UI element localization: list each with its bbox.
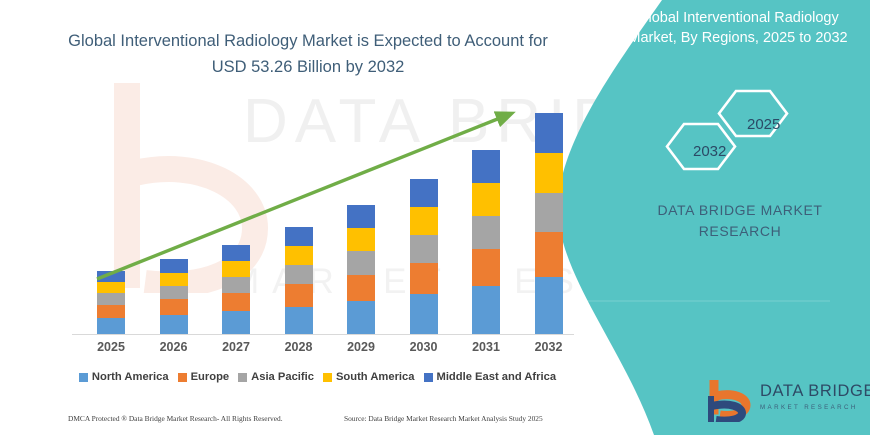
x-axis-label-2025: 2025 bbox=[81, 340, 141, 354]
bar-segment bbox=[347, 228, 375, 251]
panel-title: Global Interventional Radiology Market, … bbox=[612, 8, 864, 48]
legend-label: Asia Pacific bbox=[251, 371, 314, 383]
bar-segment bbox=[347, 301, 375, 335]
bar-2031 bbox=[472, 150, 500, 335]
bar-2025 bbox=[97, 271, 125, 335]
legend-item[interactable]: North America bbox=[79, 371, 169, 383]
legend-swatch-icon bbox=[79, 373, 88, 382]
bar-2032 bbox=[535, 113, 563, 335]
bar-segment bbox=[347, 251, 375, 274]
panel-brand: DATA BRIDGE MARKET RESEARCH bbox=[625, 200, 855, 242]
bar-2026 bbox=[160, 259, 188, 335]
legend-item[interactable]: South America bbox=[323, 371, 415, 383]
bar-segment bbox=[160, 315, 188, 335]
bar-segment bbox=[472, 286, 500, 335]
legend-item[interactable]: Middle East and Africa bbox=[424, 371, 557, 383]
footer-source: Source: Data Bridge Market Research Mark… bbox=[344, 414, 543, 423]
chart-region: 20252026202720282029203020312032 bbox=[0, 0, 600, 400]
bar-segment bbox=[535, 113, 563, 153]
legend-label: Middle East and Africa bbox=[437, 371, 557, 383]
bar-segment bbox=[535, 193, 563, 233]
legend-label: North America bbox=[92, 371, 169, 383]
bar-segment bbox=[535, 232, 563, 277]
bar-segment bbox=[472, 249, 500, 287]
bar-2030 bbox=[410, 179, 438, 335]
bar-2028 bbox=[285, 227, 313, 335]
legend-item[interactable]: Europe bbox=[178, 371, 230, 383]
bar-segment bbox=[285, 265, 313, 284]
bar-segment bbox=[410, 179, 438, 207]
bar-segment bbox=[222, 293, 250, 312]
dbmr-mark-icon bbox=[708, 380, 756, 422]
dbmr-logo-tagline: MARKET RESEARCH bbox=[760, 404, 870, 411]
bar-segment bbox=[472, 216, 500, 249]
dbmr-logo: DATA BRIDGE MARKET RESEARCH bbox=[708, 380, 858, 424]
bar-segment bbox=[410, 235, 438, 263]
dbmr-logo-text: DATA BRIDGE MARKET RESEARCH bbox=[760, 382, 870, 411]
bar-2027 bbox=[222, 245, 250, 335]
x-axis-labels: 20252026202720282029203020312032 bbox=[72, 340, 572, 360]
bar-segment bbox=[97, 318, 125, 335]
bar-2029 bbox=[347, 205, 375, 335]
bar-segment bbox=[285, 227, 313, 246]
bar-segment bbox=[410, 263, 438, 294]
legend-label: South America bbox=[336, 371, 415, 383]
bar-segment bbox=[472, 183, 500, 216]
bar-segment bbox=[222, 261, 250, 277]
hex-label-2025: 2025 bbox=[747, 116, 780, 133]
bar-segment bbox=[97, 271, 125, 282]
bar-segment bbox=[222, 277, 250, 293]
x-axis-label-2026: 2026 bbox=[144, 340, 204, 354]
legend-swatch-icon bbox=[178, 373, 187, 382]
bar-segment bbox=[285, 307, 313, 335]
bar-segment bbox=[97, 282, 125, 293]
bar-segment bbox=[535, 277, 563, 335]
bar-segment bbox=[285, 284, 313, 306]
year-hexagons: 2025 2032 bbox=[665, 86, 825, 178]
x-axis-label-2031: 2031 bbox=[456, 340, 516, 354]
legend-swatch-icon bbox=[238, 373, 247, 382]
bar-segment bbox=[160, 259, 188, 272]
footer: DMCA Protected ® Data Bridge Market Rese… bbox=[0, 414, 600, 430]
dbmr-logo-name: DATA BRIDGE bbox=[760, 382, 870, 401]
bar-segment bbox=[410, 294, 438, 335]
bar-segment bbox=[347, 205, 375, 228]
x-axis-label-2027: 2027 bbox=[206, 340, 266, 354]
x-axis-label-2029: 2029 bbox=[331, 340, 391, 354]
bar-segment bbox=[97, 293, 125, 304]
x-axis-label-2028: 2028 bbox=[269, 340, 329, 354]
bar-segment bbox=[160, 286, 188, 299]
x-axis-line bbox=[72, 334, 574, 335]
footer-copyright: DMCA Protected ® Data Bridge Market Rese… bbox=[68, 414, 283, 423]
hex-label-2032: 2032 bbox=[693, 143, 726, 160]
bar-segment bbox=[222, 311, 250, 335]
bar-segment bbox=[347, 275, 375, 301]
stacked-bars bbox=[72, 95, 572, 335]
legend-item[interactable]: Asia Pacific bbox=[238, 371, 314, 383]
bar-segment bbox=[222, 245, 250, 261]
bar-segment bbox=[410, 207, 438, 235]
chart-legend: North AmericaEuropeAsia PacificSouth Ame… bbox=[60, 371, 575, 383]
x-axis-label-2032: 2032 bbox=[519, 340, 579, 354]
legend-label: Europe bbox=[191, 371, 230, 383]
bar-segment bbox=[535, 153, 563, 193]
bar-segment bbox=[160, 299, 188, 314]
bar-segment bbox=[97, 305, 125, 318]
bar-segment bbox=[472, 150, 500, 183]
bar-segment bbox=[160, 273, 188, 286]
x-axis-label-2030: 2030 bbox=[394, 340, 454, 354]
legend-swatch-icon bbox=[323, 373, 332, 382]
bar-segment bbox=[285, 246, 313, 265]
legend-swatch-icon bbox=[424, 373, 433, 382]
infographic-canvas: DATA BRIDGE MARKET RESEARCH Global Inter… bbox=[0, 0, 870, 435]
